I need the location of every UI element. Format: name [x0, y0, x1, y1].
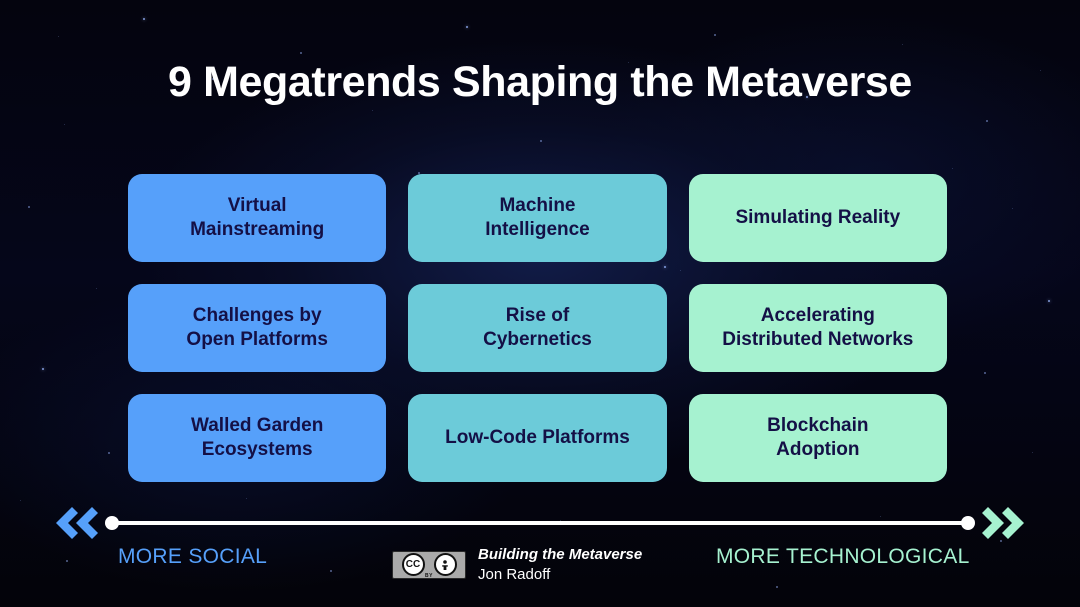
attribution: CC BY Building the Metaverse Jon Radoff	[392, 545, 642, 585]
card-virtual-mainstreaming[interactable]: VirtualMainstreaming	[128, 174, 386, 262]
card-machine-intelligence[interactable]: MachineIntelligence	[408, 174, 666, 262]
cc-license-code: BY	[393, 573, 465, 579]
card-accelerating-distributed-networks[interactable]: AcceleratingDistributed Networks	[689, 284, 947, 372]
axis-label-more-technological: MORE TECHNOLOGICAL	[716, 545, 970, 569]
card-rise-of-cybernetics[interactable]: Rise ofCybernetics	[408, 284, 666, 372]
double-chevron-right-icon	[978, 503, 1034, 543]
attribution-author: Jon Radoff	[478, 565, 642, 585]
slide-canvas: 9 Megatrends Shaping the Metaverse Virtu…	[0, 0, 1080, 607]
card-simulating-reality[interactable]: Simulating Reality	[689, 174, 947, 262]
spectrum-axis-line	[112, 521, 968, 525]
card-low-code-platforms[interactable]: Low-Code Platforms	[408, 394, 666, 482]
megatrend-grid: VirtualMainstreaming MachineIntelligence…	[128, 174, 947, 482]
page-title: 9 Megatrends Shaping the Metaverse	[0, 58, 1080, 107]
card-walled-garden-ecosystems[interactable]: Walled GardenEcosystems	[128, 394, 386, 482]
card-blockchain-adoption[interactable]: BlockchainAdoption	[689, 394, 947, 482]
axis-endpoint-left	[105, 516, 119, 530]
attribution-text: Building the Metaverse Jon Radoff	[478, 545, 642, 585]
card-challenges-by-open-platforms[interactable]: Challenges byOpen Platforms	[128, 284, 386, 372]
attribution-book-title: Building the Metaverse	[478, 545, 642, 565]
cc-by-icon: CC BY	[392, 551, 466, 579]
axis-endpoint-right	[961, 516, 975, 530]
double-chevron-left-icon	[46, 503, 102, 543]
axis-label-more-social: MORE SOCIAL	[118, 545, 267, 569]
